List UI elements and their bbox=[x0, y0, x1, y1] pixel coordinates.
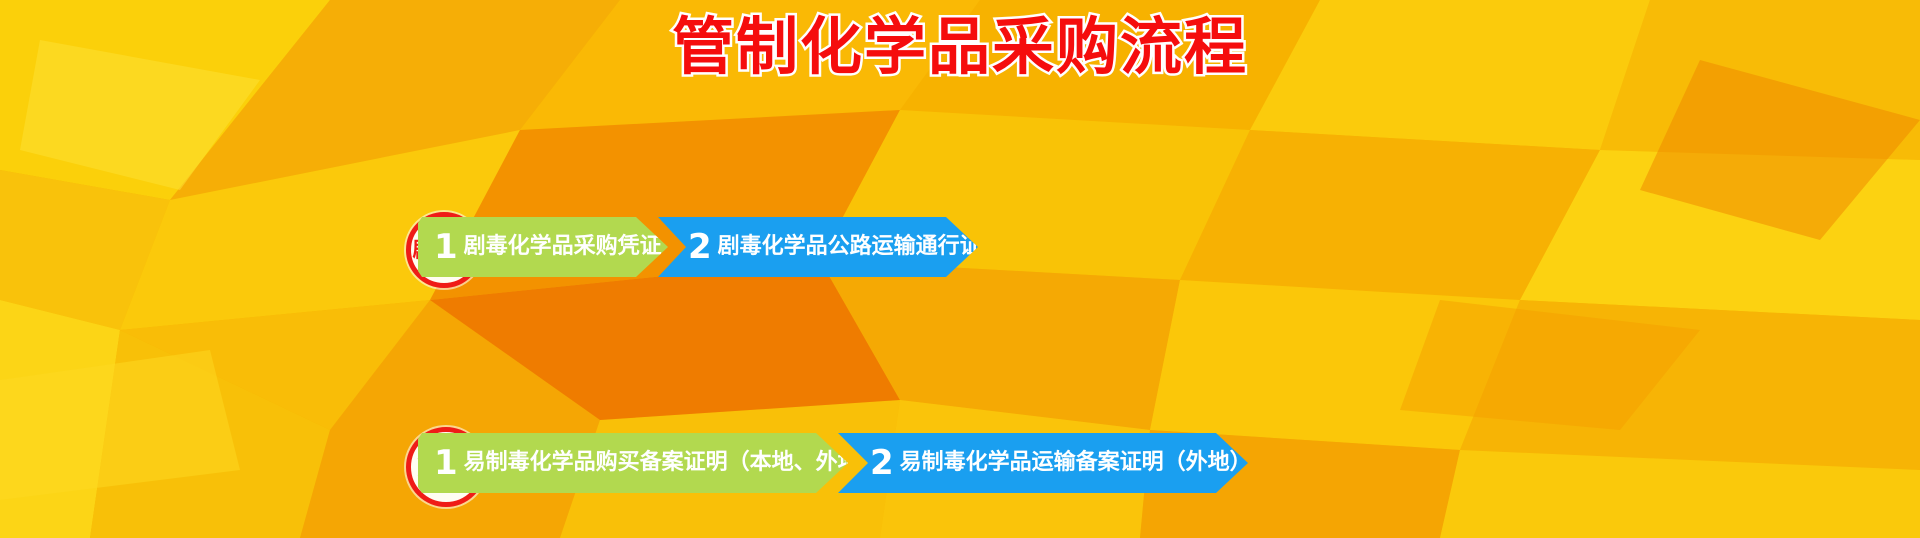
step-number: 1 bbox=[434, 446, 458, 480]
title-container: 管制化学品采购流程 bbox=[0, 8, 1920, 86]
step-label: 易制毒化学品运输备案证明（外地） bbox=[900, 448, 1252, 478]
step-2-row-2[interactable]: 2 易制毒化学品运输备案证明（外地） bbox=[838, 433, 1248, 493]
process-row-2: 易制毒 化学品 1 易制毒化学品购买备案证明（本地、外地） 2 易制毒化学品运输… bbox=[0, 215, 1920, 287]
step-1-row-2[interactable]: 1 易制毒化学品购买备案证明（本地、外地） bbox=[418, 433, 848, 493]
step-number: 2 bbox=[870, 446, 894, 480]
process-row-3: 易制爆 化学品 1 经营单位：危险品经营许可证、营业执照、 法人身份证、易制爆化… bbox=[0, 310, 1920, 410]
process-row-1: 剧毒品 1 剧毒化学品采购凭证 2 剧毒化学品公路运输通行证 bbox=[0, 105, 1920, 177]
step-label: 易制毒化学品购买备案证明（本地、外地） bbox=[464, 448, 882, 478]
page-title: 管制化学品采购流程 bbox=[672, 8, 1248, 86]
